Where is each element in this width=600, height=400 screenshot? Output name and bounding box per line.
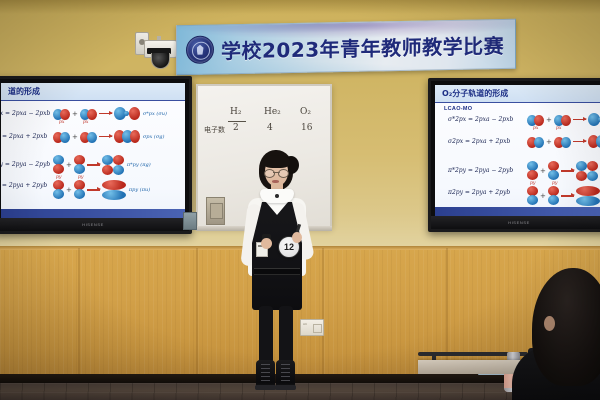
presenter-leg-right [279,306,293,364]
left-result-label-1: σ*px (σu) [143,111,167,117]
orbital-pair-left-5 [53,155,64,175]
right-screen-surface: O₂分子轨道的形成 LCAO-MO σ*2px = 2pxa − 2pxb + [435,85,600,216]
left-slide-titlebar: 道的形成 [1,83,185,101]
left-slide-title: 道的形成 [8,86,40,97]
plus-icon: + [546,138,552,146]
arrow-icon [87,189,100,190]
camera-dome-icon [151,53,170,69]
presenter-leg-left [259,306,273,364]
left-orbital-sublabel-1b: px [83,120,88,125]
orbital-pair-left-2 [80,108,97,120]
whiteboard-col-header-2: He₂ [264,107,281,117]
presenter-left-hand [261,238,272,249]
whiteboard-row-label: 电子数 [204,125,225,135]
event-banner: 学校2023年青年教师教学比赛 [176,19,516,76]
left-equation-3: π*2py = 2pya − 2pyb [1,161,50,168]
orbital-pair-right-5 [527,161,538,181]
wall-equipment-box [183,212,197,230]
arrow-icon [573,119,586,120]
orbital-pair-right-7 [527,186,538,206]
classroom-scene: 学校2023年青年教师教学比赛 道的形成 σ*2px = 2pxa − 2pxb [0,0,600,400]
left-slide-footer [1,209,185,218]
orbital-result-right-2 [588,135,600,148]
plus-icon: + [72,110,78,118]
orbital-result-right-3 [576,161,598,181]
orbital-result-3 [102,155,124,175]
orbital-pair-right-4 [554,136,571,148]
ceiling-shadow [0,0,600,14]
orbital-pair-left-1 [53,108,70,120]
plus-icon: + [66,161,72,169]
whiteboard-col-header-3: O₂ [300,107,311,117]
right-equation-4: π2py = 2pya + 2pyb [448,189,510,196]
right-tv-brand: HISENSE [508,220,530,225]
right-orbital-sublabel-1b: px [556,126,561,131]
banner-title: 学校2023年青年教师教学比赛 [221,29,504,63]
orbital-pair-right-6 [548,161,559,181]
right-slide: O₂分子轨道的形成 LCAO-MO σ*2px = 2pxa − 2pxb + [435,85,600,216]
right-slide-footer [435,207,600,216]
orbital-pair-left-8 [74,180,85,200]
right-slide-titlebar: O₂分子轨道的形成 [435,85,600,103]
presenter-right-hand [292,232,302,243]
orbital-pair-left-3 [53,131,70,143]
left-equation-1: σ*2px = 2pxa − 2pxb [1,110,50,117]
orbital-result-2 [114,130,140,143]
right-equation-1: σ*2px = 2pxa − 2pxb [448,116,513,123]
orbital-result-right-4 [576,186,600,206]
plus-icon: + [546,116,552,124]
plus-icon: + [540,167,546,175]
arrow-icon [99,113,112,114]
right-equation-2: σ2px = 2pxa + 2pxb [448,138,510,145]
presenter-fringe [263,155,290,168]
arrow-icon [573,141,586,142]
right-tv-bezel-bottom: HISENSE [431,216,600,229]
left-result-label-2: σpx (σg) [143,134,165,140]
attendee-hair [532,268,600,386]
orbital-pair-left-7 [53,180,64,200]
plus-icon: + [72,133,78,141]
arrow-icon [87,164,100,165]
presenter-boot-left [256,360,275,390]
orbital-pair-right-1 [527,114,544,126]
left-tv-brand: HISENSE [82,222,104,227]
left-display-screen: 道的形成 σ*2px = 2pxa − 2pxb + [0,76,192,234]
presenter-boot-right [276,360,295,390]
ceiling-camera [135,27,175,71]
whiteboard-divider [228,121,246,122]
right-equation-3: π*2py = 2pya − 2pyb [448,167,513,174]
plus-icon: + [66,186,72,194]
orbital-pair-right-3 [527,136,544,148]
orbital-result-right-1 [588,113,600,126]
orbital-pair-left-6 [74,155,85,175]
arrow-icon [99,136,112,137]
right-slide-subtitle: LCAO-MO [444,106,472,112]
arrow-icon [561,195,574,196]
whiteboard-value-2: 4 [267,123,273,133]
left-orbital-sublabel-1a: px [59,120,64,125]
presenter: 12 [226,150,326,400]
left-result-label-3: π*py (πg) [127,162,151,168]
right-display-screen: O₂分子轨道的形成 LCAO-MO σ*2px = 2pxa − 2pxb + [428,78,600,232]
orbital-pair-left-4 [80,131,97,143]
presenter-mouth [272,180,279,183]
right-orbital-sublabel-1a: px [533,126,538,131]
whiteboard-value-3: 16 [301,123,312,133]
plus-icon: + [540,192,546,200]
orbital-pair-right-8 [548,186,559,206]
wainscot-seam [78,248,80,374]
left-tv-bezel-bottom: HISENSE [0,218,189,231]
orbital-result-4 [102,180,126,200]
whiteboard-value-1: 2 [233,123,239,133]
school-emblem-icon [186,36,214,65]
orbital-result-1 [114,107,140,120]
whiteboard-col-header-1: H₂ [230,107,241,117]
attendee-ear [544,316,555,331]
presenter-collar [260,189,294,203]
left-slide: 道的形成 σ*2px = 2pxa − 2pxb + [1,83,185,218]
left-screen-surface: 道的形成 σ*2px = 2pxa − 2pxb + [1,83,185,218]
left-equation-4: π2py = 2pya + 2pyb [1,182,47,189]
left-equation-2: σ2px = 2pxa + 2pxb [1,133,47,140]
wall-access-panel [206,197,225,225]
glasses-icon [264,169,289,176]
seated-attendee [520,268,600,400]
presenter-belt [254,268,300,275]
left-result-label-4: πpy (πu) [129,187,150,193]
orbital-pair-right-2 [554,114,571,126]
right-slide-title: O₂分子轨道的形成 [442,88,508,99]
arrow-icon [561,170,574,171]
wainscot-seam [196,248,198,374]
